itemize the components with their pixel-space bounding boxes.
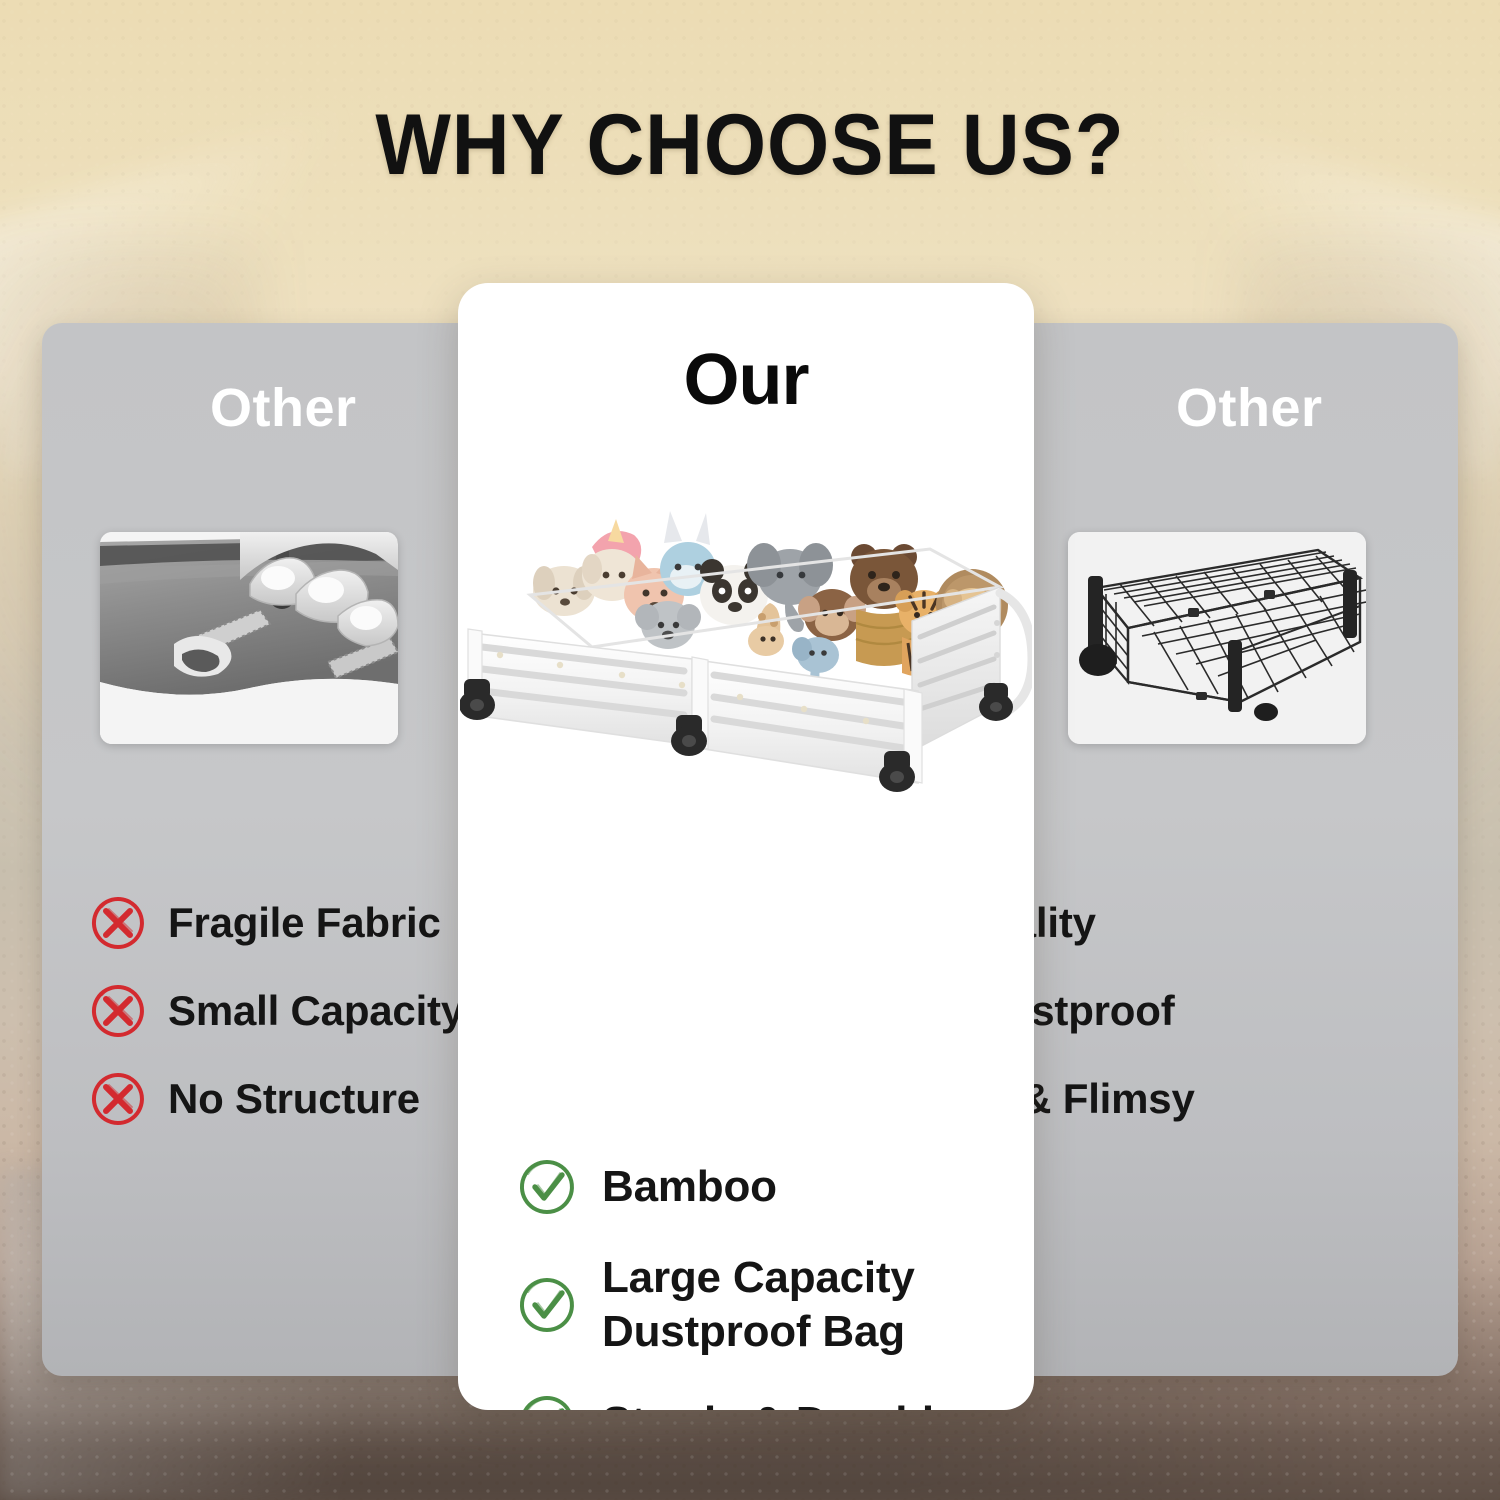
list-item: Sturdy & Durable [518,1364,1034,1410]
list-item-label: Fragile Fabric [168,899,441,947]
our-product-card: Our [458,283,1034,1410]
list-item-label: No Structure [168,1075,420,1123]
panel-center-product-photo [460,483,1032,803]
check-circle-icon [518,1158,576,1216]
check-circle-icon [518,1394,576,1410]
page-title: WHY CHOOSE US? [53,96,1448,195]
rolling-storage-box-with-plush-toys-icon [460,483,1032,803]
panel-center-feature-list: Bamboo Large Capacity Dustproof Bag [518,1128,1034,1410]
list-item-label: Large Capacity Dustproof Bag [602,1251,915,1358]
cross-circle-icon [90,1071,146,1127]
list-item: Bamboo [518,1128,1034,1246]
list-item-label: Sturdy & Durable [602,1396,958,1410]
wire-mesh-basket-icon [1068,532,1366,744]
panel-left-title: Other [210,377,357,439]
check-circle-icon [518,1276,576,1334]
cross-circle-icon [90,895,146,951]
cross-circle-icon [90,983,146,1039]
panel-center-title: Our [458,339,1034,421]
list-item: Large Capacity Dustproof Bag [518,1246,1034,1364]
broken-zipper-fabric-icon [100,532,398,744]
panel-right-title: Other [1176,377,1323,439]
list-item-label: Small Capacity [168,987,464,1035]
panel-right-product-photo [1068,532,1366,744]
list-item-label: Bamboo [602,1160,777,1214]
panel-left-product-photo [100,532,398,744]
